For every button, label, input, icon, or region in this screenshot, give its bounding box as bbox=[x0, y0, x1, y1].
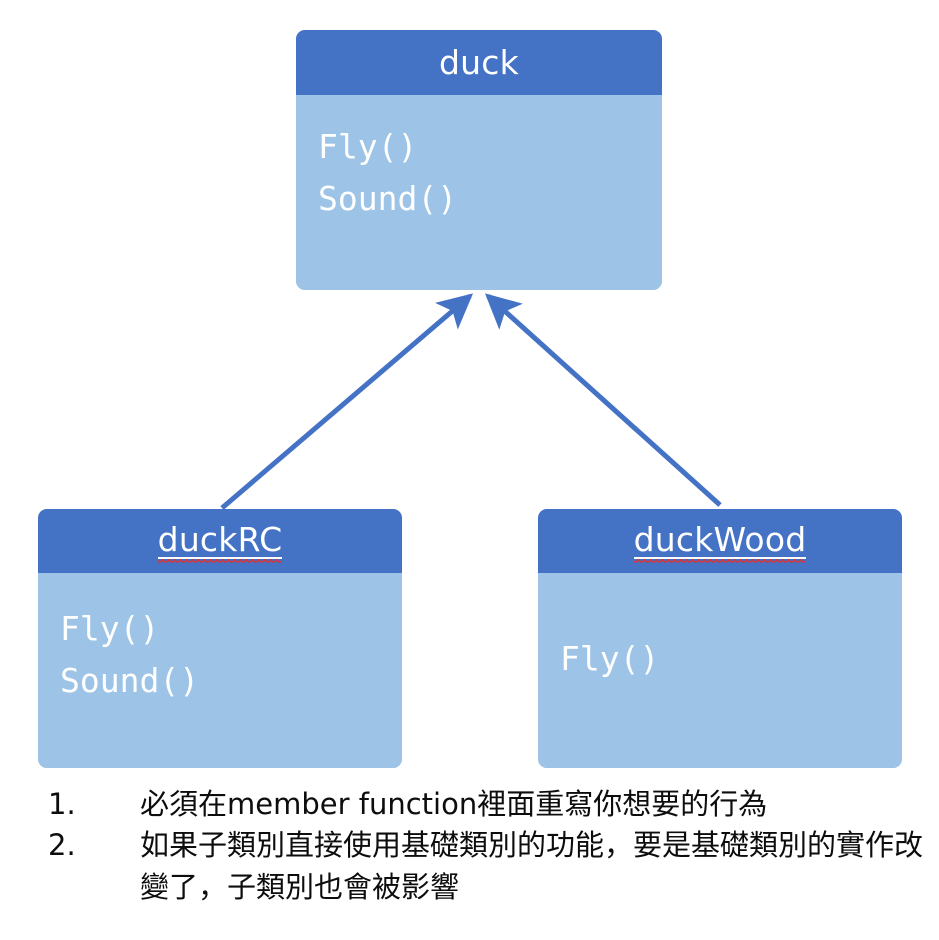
note-item: 1. 必須在member function裡面重寫你想要的行為 bbox=[48, 784, 928, 825]
class-methods-duckwood: Fly() bbox=[538, 573, 902, 768]
class-methods-duckrc: Fly() Sound() bbox=[38, 573, 402, 768]
class-header-duck: duck bbox=[296, 30, 662, 95]
note-number: 2. bbox=[48, 825, 140, 866]
class-name-duckrc: duckRC bbox=[158, 520, 283, 559]
class-methods-duck: Fly() Sound() bbox=[296, 95, 662, 290]
class-header-duckrc: duckRC bbox=[38, 509, 402, 573]
class-name-duckrc-wrapper: duckRC bbox=[158, 523, 283, 559]
class-header-duckwood: duckWood bbox=[538, 509, 902, 573]
class-name-duckwood: duckWood bbox=[634, 520, 807, 559]
note-number: 1. bbox=[48, 784, 140, 825]
connector-duckrc-to-duck bbox=[222, 296, 470, 508]
spellcheck-squiggle-icon bbox=[634, 559, 807, 563]
class-box-duck[interactable]: duck Fly() Sound() bbox=[296, 30, 662, 290]
connector-duckwood-to-duck bbox=[488, 296, 720, 505]
notes-list: 1. 必須在member function裡面重寫你想要的行為 2. 如果子類別… bbox=[48, 784, 928, 908]
class-name-duck: duck bbox=[439, 46, 519, 79]
note-text: 必須在member function裡面重寫你想要的行為 bbox=[140, 784, 928, 825]
class-box-duckrc[interactable]: duckRC Fly() Sound() bbox=[38, 509, 402, 768]
class-name-duckwood-wrapper: duckWood bbox=[634, 523, 807, 559]
spellcheck-squiggle-icon bbox=[158, 559, 283, 563]
note-text: 如果子類別直接使用基礎類別的功能，要是基礎類別的實作改變了，子類別也會被影響 bbox=[140, 825, 928, 908]
class-box-duckwood[interactable]: duckWood Fly() bbox=[538, 509, 902, 768]
note-item: 2. 如果子類別直接使用基礎類別的功能，要是基礎類別的實作改變了，子類別也會被影… bbox=[48, 825, 928, 908]
diagram-canvas: duck Fly() Sound() duckRC Fly() Sound() … bbox=[0, 0, 939, 940]
